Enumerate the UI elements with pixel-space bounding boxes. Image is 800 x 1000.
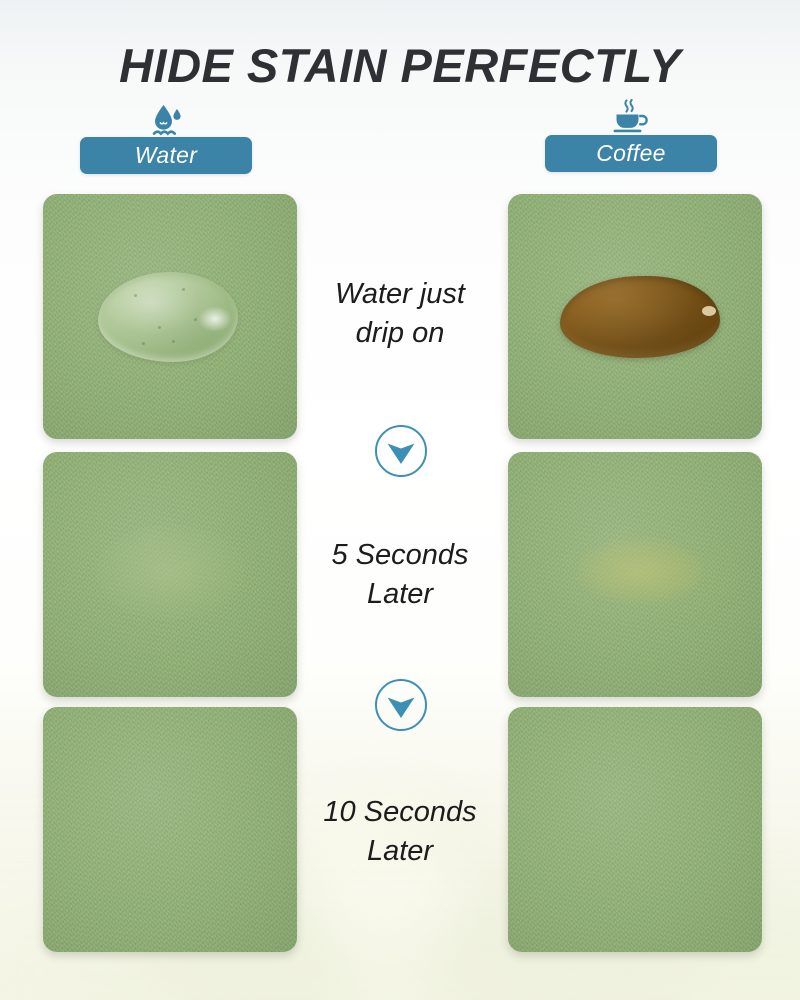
column-header-coffee: Coffee bbox=[511, 101, 751, 172]
badge-water: Water bbox=[80, 137, 252, 174]
column-header-water: Water bbox=[46, 103, 286, 174]
badge-coffee-label: Coffee bbox=[596, 140, 666, 167]
panel-vignette bbox=[43, 452, 297, 697]
caption-line: drip on bbox=[270, 314, 530, 353]
swatch-coffee-drip bbox=[508, 194, 762, 439]
chevron-down-circle-icon bbox=[374, 424, 428, 478]
caption-step-drip: Water just drip on bbox=[270, 275, 530, 353]
caption-step-5s: 5 Seconds Later bbox=[270, 536, 530, 614]
coffee-cup-icon bbox=[511, 101, 751, 135]
water-drop-icon bbox=[46, 103, 286, 137]
swatch-coffee-5s bbox=[508, 452, 762, 697]
swatch-water-10s bbox=[43, 707, 297, 952]
swatch-water-5s bbox=[43, 452, 297, 697]
panel-vignette bbox=[43, 707, 297, 952]
caption-line: 5 Seconds bbox=[270, 536, 530, 575]
caption-line: Later bbox=[270, 832, 530, 871]
page-title: HIDE STAIN PERFECTLY bbox=[0, 38, 800, 94]
caption-line: Later bbox=[270, 575, 530, 614]
caption-step-10s: 10 Seconds Later bbox=[270, 793, 530, 871]
panel-vignette bbox=[43, 194, 297, 439]
chevron-down-circle-icon bbox=[374, 678, 428, 732]
infographic-stage: HIDE STAIN PERFECTLY Water bbox=[0, 0, 800, 1000]
caption-line: 10 Seconds bbox=[270, 793, 530, 832]
swatch-coffee-10s bbox=[508, 707, 762, 952]
badge-water-label: Water bbox=[135, 142, 197, 169]
panel-vignette bbox=[508, 452, 762, 697]
badge-coffee: Coffee bbox=[545, 135, 717, 172]
panel-vignette bbox=[508, 194, 762, 439]
swatch-water-drip bbox=[43, 194, 297, 439]
caption-line: Water just bbox=[270, 275, 530, 314]
panel-vignette bbox=[508, 707, 762, 952]
